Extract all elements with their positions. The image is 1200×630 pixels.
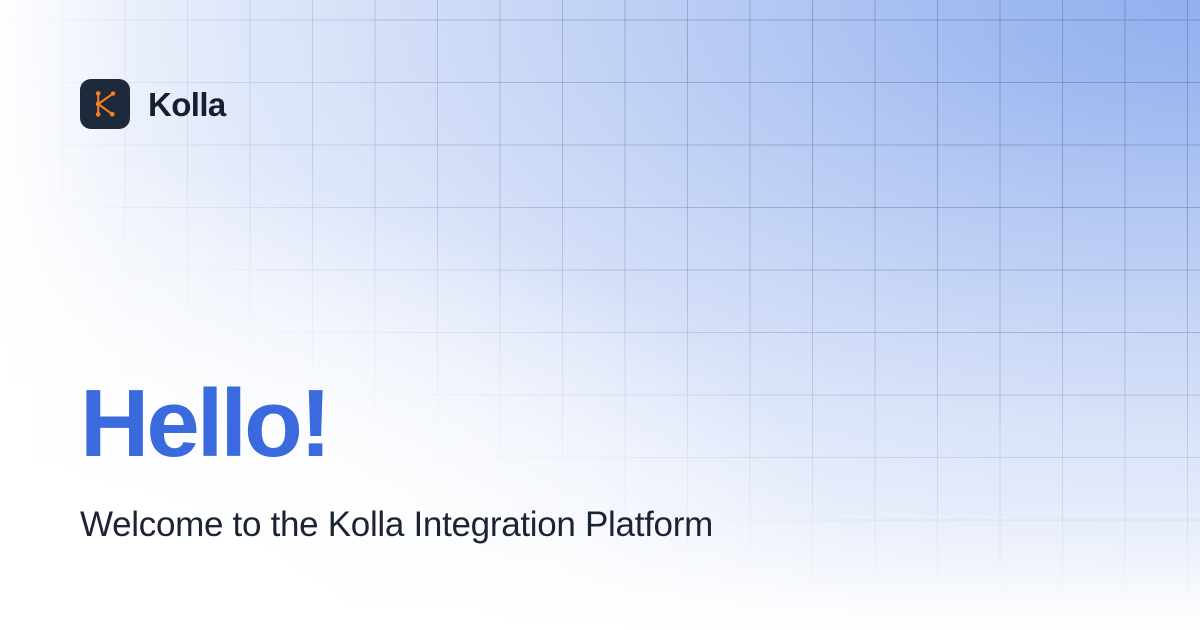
kolla-logo-mark: [80, 79, 130, 129]
og-card: Kolla Hello! Welcome to the Kolla Integr…: [0, 0, 1200, 630]
hero-text-block: Hello! Welcome to the Kolla Integration …: [80, 376, 713, 546]
card-content: Kolla Hello! Welcome to the Kolla Integr…: [0, 0, 1200, 630]
page-subtitle: Welcome to the Kolla Integration Platfor…: [80, 472, 713, 546]
page-title: Hello!: [80, 376, 713, 472]
brand-lockup: Kolla: [80, 79, 226, 129]
kolla-k-node-logo-icon: [90, 89, 120, 119]
brand-name: Kolla: [148, 88, 226, 121]
